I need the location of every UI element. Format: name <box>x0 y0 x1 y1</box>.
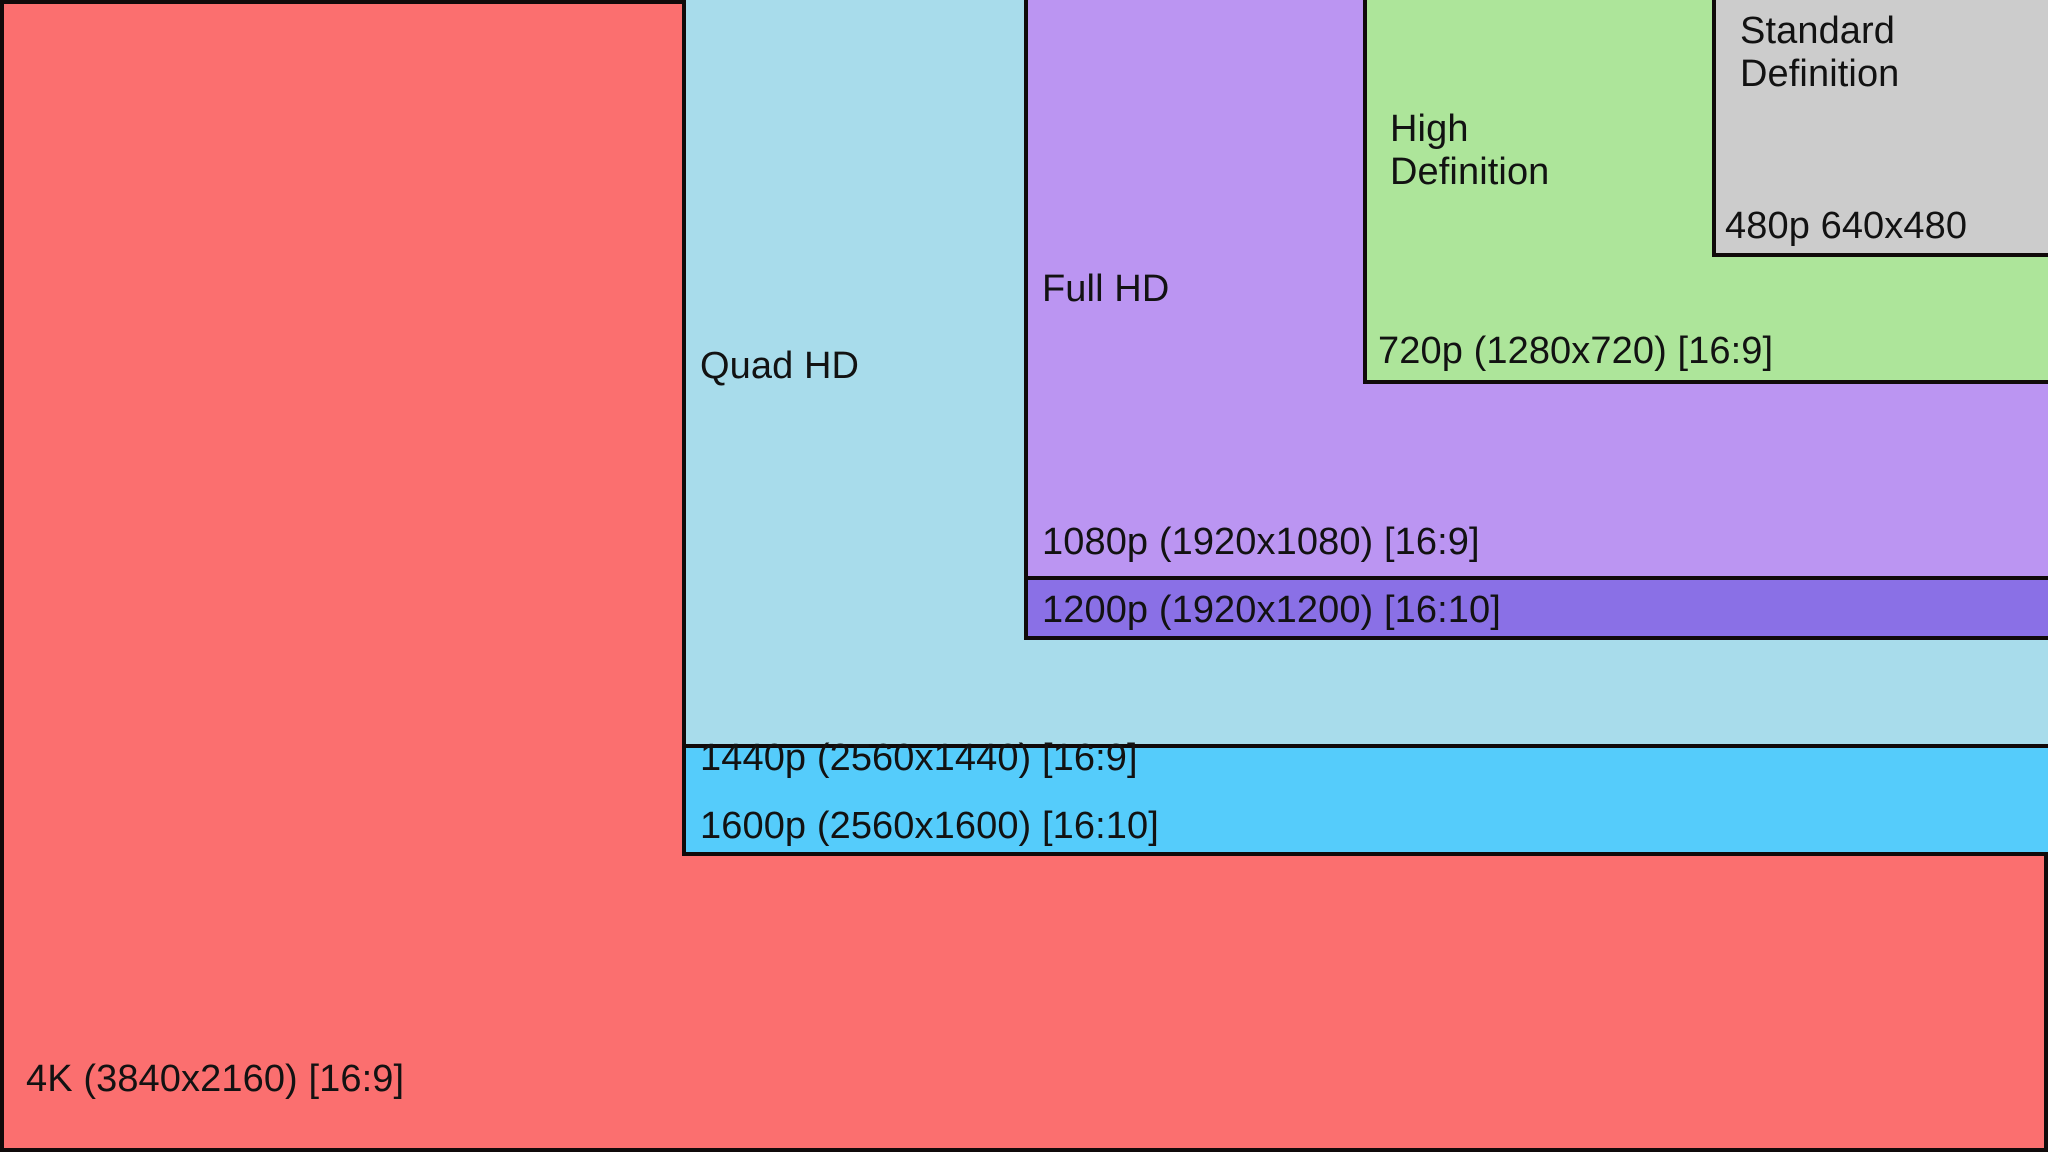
label-quad-hd-name: Quad HD <box>700 345 859 388</box>
label-1200p-spec: 1200p (1920x1200) [16:10] <box>1042 589 1501 632</box>
label-1600p-spec: 1600p (2560x1600) [16:10] <box>700 805 1159 848</box>
label-1440p-spec: 1440p (2560x1440) [16:9] <box>700 737 1138 780</box>
label-full-hd-name: Full HD <box>1042 268 1169 311</box>
label-standard-definition-name: Standard Definition <box>1740 10 1899 95</box>
label-480p-spec: 480p 640x480 <box>1725 205 1967 248</box>
label-1080p-spec: 1080p (1920x1080) [16:9] <box>1042 521 1480 564</box>
resolution-comparison-diagram: Standard Definition High Definition Full… <box>0 0 2048 1152</box>
label-high-definition-name: High Definition <box>1390 108 1549 193</box>
label-720p-spec: 720p (1280x720) [16:9] <box>1378 330 1773 373</box>
label-4k-spec: 4K (3840x2160) [16:9] <box>26 1058 404 1101</box>
